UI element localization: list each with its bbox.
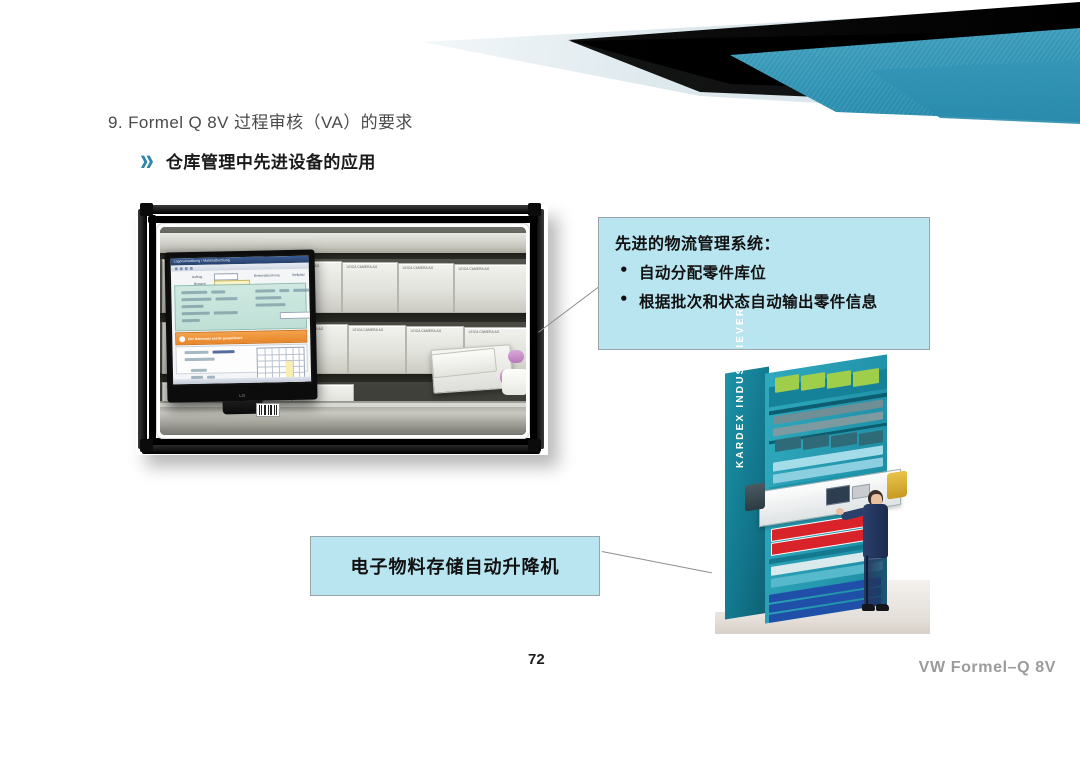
machine-brand-label: KARDEX INDUSTRIEVER xyxy=(735,318,749,468)
connector-line-bottom xyxy=(602,551,712,574)
callout-vertical-lift: 电子物料存储自动升降机 xyxy=(310,536,600,596)
panel-value xyxy=(279,289,289,292)
tab-bestandsbuchung[interactable]: Bestandsbuchung xyxy=(254,273,280,278)
banner-black-wedge-2 xyxy=(400,0,1080,190)
worker-hand xyxy=(836,508,844,515)
alert-icon xyxy=(179,336,185,342)
shelf-beam-top xyxy=(160,233,526,253)
bin-label: LEICA CAMERA AG xyxy=(403,266,434,270)
monitor-brand-logo: LG xyxy=(239,393,245,398)
app-detail-panel xyxy=(174,283,307,332)
app-title-text: Lagerverwaltung / Materialbuchung xyxy=(174,258,230,263)
callout-bullet-item: • 根据批次和状态自动输出零件信息 xyxy=(619,290,915,312)
panel-row xyxy=(255,296,281,300)
slide-canvas: 9. Formel Q 8V 过程审核（VA）的要求 » 仓库管理中先进设备的应… xyxy=(0,0,1080,764)
toolbar-icon xyxy=(175,267,178,270)
form-label-auftrag: Auftrag xyxy=(192,275,202,279)
panel-input[interactable] xyxy=(280,312,311,320)
callout-bullet-text: 自动分配零件库位 xyxy=(639,261,766,283)
worker-leg-split xyxy=(866,556,868,604)
bin-label: LEICA CAMERA AG xyxy=(411,329,442,333)
worker-shoe-right xyxy=(876,604,889,611)
machine-side-knob-left[interactable] xyxy=(745,482,765,511)
app-form-bar: Auftrag Bestand Bestandsbuchung Stellpla… xyxy=(174,272,306,283)
lower-row xyxy=(185,351,209,355)
banner-light-wedge xyxy=(400,0,1080,190)
frame-bar-right-inner xyxy=(530,215,537,445)
decorative-banner xyxy=(400,0,1080,190)
lower-row xyxy=(191,369,207,372)
callout-bullet-item: • 自动分配零件库位 xyxy=(619,261,915,283)
double-chevron-icon: » xyxy=(140,145,152,176)
tab-stellplatz[interactable]: Stellplatz xyxy=(292,273,305,277)
storage-bin: LEICA CAMERA AG xyxy=(342,262,398,313)
toolbar-icon xyxy=(185,267,188,270)
frame-bar-left xyxy=(138,209,147,449)
frame-bar-bottom-inner xyxy=(148,438,538,445)
monitor-screen: Lagerverwaltung / Materialbuchung Auftra… xyxy=(171,256,312,385)
panel-row xyxy=(182,312,210,316)
panel-value xyxy=(211,290,225,293)
frame-clip-bottom-left xyxy=(140,439,153,452)
lower-row xyxy=(185,358,215,362)
page-number: 72 xyxy=(528,651,545,668)
panel-row xyxy=(255,289,275,292)
monitor-bezel: Lagerverwaltung / Materialbuchung Auftra… xyxy=(169,254,314,387)
bin-label: LEICA CAMERA AG xyxy=(459,267,490,271)
warehouse-photo-frame: LEICA CAMERA AG LEICA CAMERA AG LEICA CA… xyxy=(126,193,566,469)
banner-teal-band-2 xyxy=(400,0,1080,190)
frame-bar-top-inner xyxy=(148,216,538,223)
callout-logistics-system: 先进的物流管理系统： • 自动分配零件库位 • 根据批次和状态自动输出零件信息 xyxy=(598,217,930,350)
banner-teal-band xyxy=(400,0,1080,190)
alert-text: Der Datensatz wurde gespeichert. xyxy=(188,335,243,340)
lower-value xyxy=(213,350,235,353)
warehouse-photo: LEICA CAMERA AG LEICA CAMERA AG LEICA CA… xyxy=(160,227,526,435)
subheading-row: » 仓库管理中先进设备的应用 xyxy=(140,148,376,173)
bullet-icon: • xyxy=(619,290,629,308)
callout-bullet-text: 根据批次和状态自动输出零件信息 xyxy=(639,290,878,312)
panel-row xyxy=(256,303,286,307)
storage-bin: LEICA CAMERA AG xyxy=(398,263,454,313)
footer-brand: VW Formel–Q 8V xyxy=(919,659,1056,677)
vertical-lift-machine: KARDEX INDUSTRIEVER xyxy=(715,362,930,634)
machine-panel-display[interactable] xyxy=(826,485,850,506)
computer-monitor: Lagerverwaltung / Materialbuchung Auftra… xyxy=(164,249,317,402)
subheading-label: 仓库管理中先进设备的应用 xyxy=(166,148,376,173)
frame-bar-top xyxy=(142,205,540,214)
bullet-icon: • xyxy=(619,261,629,279)
storage-bin: LEICA CAMERA AG xyxy=(348,325,406,374)
toolbar-icon xyxy=(190,267,193,270)
bin-label: LEICA CAMERA AG xyxy=(347,265,378,269)
banner-black-wedge xyxy=(400,0,1080,190)
panel-value xyxy=(214,311,238,315)
frame-clip-top-right xyxy=(528,203,541,216)
slide-title: 9. Formel Q 8V 过程审核（VA）的要求 xyxy=(108,108,413,133)
app-lower-panel xyxy=(175,344,308,375)
bin-label: LEICA CAMERA AG xyxy=(469,330,500,334)
bin-label: LEICA CAMERA AG xyxy=(353,328,384,332)
worker-sleeve xyxy=(502,369,526,395)
panel-row xyxy=(182,319,200,322)
frame-bar-bottom xyxy=(142,445,540,454)
barcode-label xyxy=(256,403,280,417)
purple-glove-icon xyxy=(508,350,524,363)
alert-banner: Der Datensatz wurde gespeichert. xyxy=(175,330,307,346)
photo-counter-edge xyxy=(160,403,526,407)
panel-row xyxy=(293,289,309,292)
panel-row xyxy=(182,305,204,308)
warehouse-worker xyxy=(855,490,903,618)
toolbar-icon xyxy=(180,267,183,270)
frame-bar-left-inner xyxy=(149,215,156,445)
panel-row xyxy=(181,291,207,295)
panel-value xyxy=(215,297,237,300)
callout-title: 先进的物流管理系统： xyxy=(615,230,915,254)
storage-bin: LEICA CAMERA AG xyxy=(454,264,526,313)
frame-clip-top-left xyxy=(140,203,153,216)
callout-bottom-text: 电子物料存储自动升降机 xyxy=(351,553,560,579)
frame-clip-bottom-right xyxy=(528,439,541,452)
worker-shoe-left xyxy=(862,604,875,611)
callout-bullet-list: • 自动分配零件库位 • 根据批次和状态自动输出零件信息 xyxy=(613,261,915,312)
panel-row xyxy=(181,298,211,302)
